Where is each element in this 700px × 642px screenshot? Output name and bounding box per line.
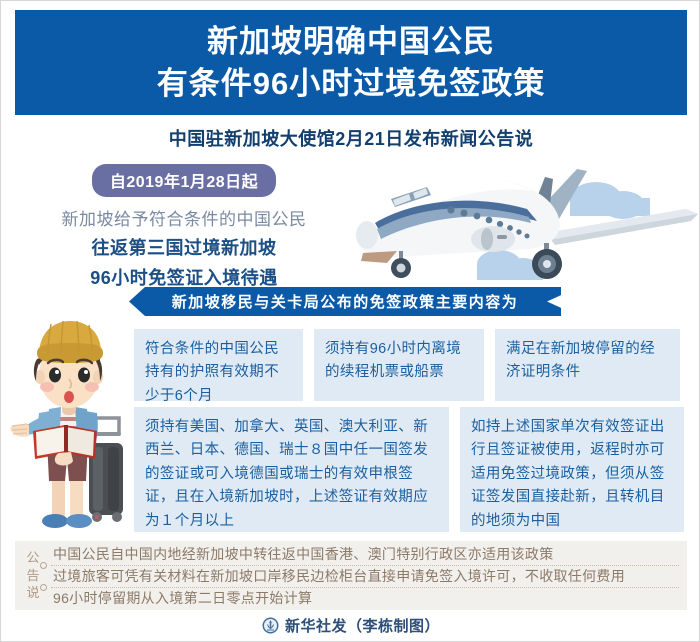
traveler-with-suitcase-icon [9, 313, 139, 538]
page-subtitle: 中国驻新加坡大使馆2月21日发布新闻公告说 [1, 125, 700, 151]
section-banner: 新加坡移民与关卡局公布的免签政策主要内容为 [129, 287, 561, 316]
bullet-icon [40, 584, 47, 591]
notice-item-text: 96小时停留期从入境第二日零点开始计算 [51, 588, 312, 608]
notice-divider [51, 587, 679, 588]
notice-item-text: 过境旅客可凭有关材料在新加坡口岸移民边检柜台直接申请免签入境许可，不收取任何费用 [51, 566, 625, 586]
infographic-page: 新加坡明确中国公民 有条件96小时过境免签政策 中国驻新加坡大使馆2月21日发布… [0, 0, 700, 642]
notice-list: 中国公民自中国内地经新加坡中转往返中国香港、澳门特别行政区亦适用该政策 过境旅客… [51, 541, 687, 610]
footer-credit: 新华社发（李栋制图） [285, 615, 440, 636]
policy-cards-top-row: 符合条件的中国公民持有的护照有效期不少于6个月 须持有96小时内离境的续程机票或… [134, 329, 690, 401]
notice-label-char-3: 说 [26, 584, 39, 602]
policy-card: 符合条件的中国公民持有的护照有效期不少于6个月 [134, 329, 303, 401]
notice-item: 过境旅客可凭有关材料在新加坡口岸移民边检柜台直接申请免签入境许可，不收取任何费用 [51, 565, 679, 587]
notice-item-text: 中国公民自中国内地经新加坡中转往返中国香港、澳门特别行政区亦适用该政策 [51, 544, 554, 564]
policy-card: 满足在新加坡停留的经济证明条件 [495, 329, 680, 401]
intro-block: 自2019年1月28日起 新加坡给予符合条件的中国公民 往返第三国过境新加坡 9… [19, 164, 349, 290]
notice-panel-label: 公 告 说 [15, 541, 51, 610]
policy-cards-bottom-row: 须持有美国、加拿大、英国、澳大利亚、新西兰、日本、德国、瑞士８国中任一国签发的签… [134, 407, 690, 532]
policy-card: 须持有96小时内离境的续程机票或船票 [314, 329, 484, 401]
notice-item: 96小时停留期从入境第二日零点开始计算 [51, 587, 679, 609]
xinhua-logo-icon [262, 617, 279, 634]
footer: 新华社发（李栋制图） [1, 615, 700, 636]
intro-line-3: 96小时免签证入境待遇 [19, 264, 349, 290]
effective-date-badge: 自2019年1月28日起 [92, 164, 276, 197]
page-title-line-1: 新加坡明确中国公民 [207, 21, 495, 62]
intro-line-1: 新加坡给予符合条件的中国公民 [19, 205, 349, 230]
bullet-icon [40, 562, 47, 569]
page-title-line-2: 有条件96小时过境免签政策 [157, 63, 545, 104]
section-banner-label: 新加坡移民与关卡局公布的免签政策主要内容为 [172, 291, 519, 312]
policy-card: 须持有美国、加拿大、英国、澳大利亚、新西兰、日本、德国、瑞士８国中任一国签发的签… [134, 407, 449, 532]
intro-line-2: 往返第三国过境新加坡 [19, 234, 349, 260]
header-banner: 新加坡明确中国公民 有条件96小时过境免签政策 [15, 10, 687, 115]
notice-panel: 公 告 说 中国公民自中国内地经新加坡中转往返中国香港、澳门特别行政区亦适用该政… [15, 541, 687, 610]
notice-label-char-2: 告 [26, 567, 39, 585]
policy-card: 如持上述国家单次有效签证出行且签证被使用，返程时亦可适用免签过境政策，但须从签证… [460, 407, 684, 532]
notice-item: 中国公民自中国内地经新加坡中转往返中国香港、澳门特别行政区亦适用该政策 [51, 543, 679, 565]
notice-label-char-1: 公 [26, 549, 39, 567]
notice-divider [51, 565, 679, 566]
